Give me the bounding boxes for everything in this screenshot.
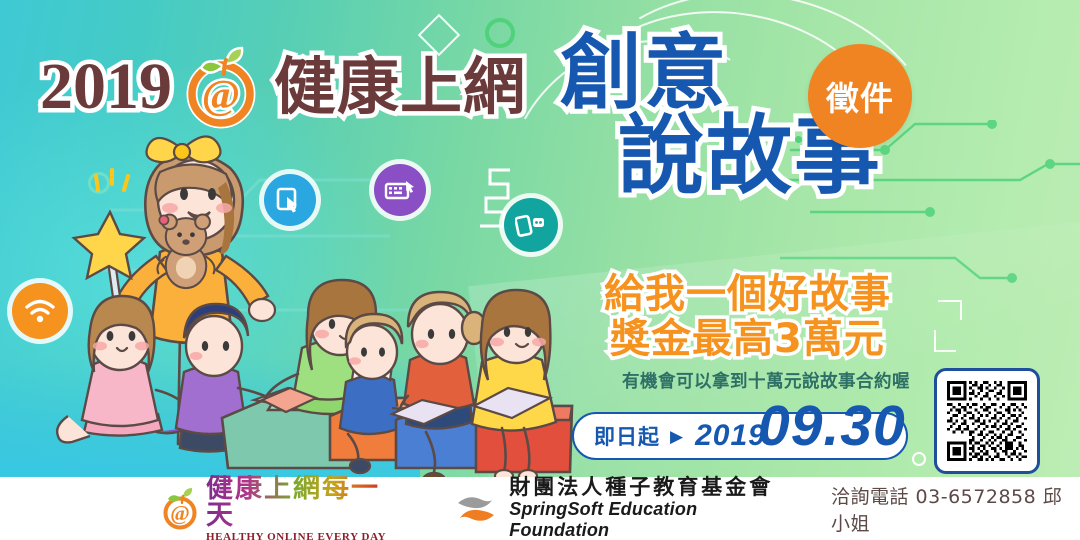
at-orange-leaf-icon-glyph: @ @ [178, 44, 264, 130]
springsoft-logo-cjk: 財團法人種子教育基金會 [509, 476, 775, 498]
healthy-online-logo-cjk: 健康上網每一天 [206, 475, 389, 529]
healthy-online-logo: @ 健康上網每一天 HEALTHY ONLINE EVERY DAY [158, 475, 389, 540]
logo-title-year: 2019 [40, 54, 172, 120]
healthy-online-logo-en: HEALTHY ONLINE EVERY DAY [206, 531, 389, 540]
headline-line-1: 創意 [560, 34, 990, 114]
badge-label: 徵件 [826, 72, 894, 120]
logo-title: 2019 @ @ 健康上網 [40, 44, 526, 130]
svg-text:@: @ [202, 71, 240, 117]
at-orange-leaf-icon-glyph: @ [158, 487, 202, 531]
contact-phone: 洽詢電話 03-6572858 邱小姐 [831, 482, 1080, 536]
springsoft-logo-en: SpringSoft Education Foundation [509, 499, 775, 540]
qr-code-glyph [947, 381, 1027, 461]
logo-title-text: 健康上網 [274, 56, 526, 118]
springsoft-foundation-logo: 財團法人種子教育基金會 SpringSoft Education Foundat… [453, 476, 775, 540]
mobile-device-icon [504, 198, 558, 252]
tablet-touch-icon-glyph [275, 186, 305, 214]
date-label: 即日起 [594, 421, 660, 451]
keyboard-icon-glyph [384, 177, 416, 203]
at-orange-leaf-icon: @ [158, 487, 202, 531]
springsoft-swirl-icon-glyph [453, 492, 499, 526]
prize-line-2: 獎金最高3萬元 [610, 317, 1004, 362]
wifi-icon [12, 283, 68, 339]
tablet-touch-icon [264, 174, 316, 226]
at-orange-leaf-icon: @ @ [178, 44, 264, 130]
svg-text:@: @ [170, 501, 190, 525]
footer-bar: @ 健康上網每一天 HEALTHY ONLINE EVERY DAY 財團法人 [0, 477, 1080, 540]
promo-banner: .sk{fill:#fde4d8}.sk2{fill:#fbd9c9} .ln{… [0, 0, 1080, 540]
wifi-icon-glyph [24, 298, 56, 324]
status-badge: 徵件 [808, 44, 912, 148]
headline: 創意 說故事 [560, 34, 990, 199]
qr-code[interactable] [934, 368, 1040, 474]
headline-line-2: 說故事 [618, 114, 990, 198]
prize-line-1: 給我一個好故事 [604, 272, 1004, 317]
mobile-device-icon-glyph [515, 212, 547, 238]
keyboard-icon [374, 164, 426, 216]
date-day: 09.30 [758, 398, 906, 455]
springsoft-swirl-icon [453, 492, 499, 526]
play-triangle-icon: ▶ [670, 428, 683, 445]
